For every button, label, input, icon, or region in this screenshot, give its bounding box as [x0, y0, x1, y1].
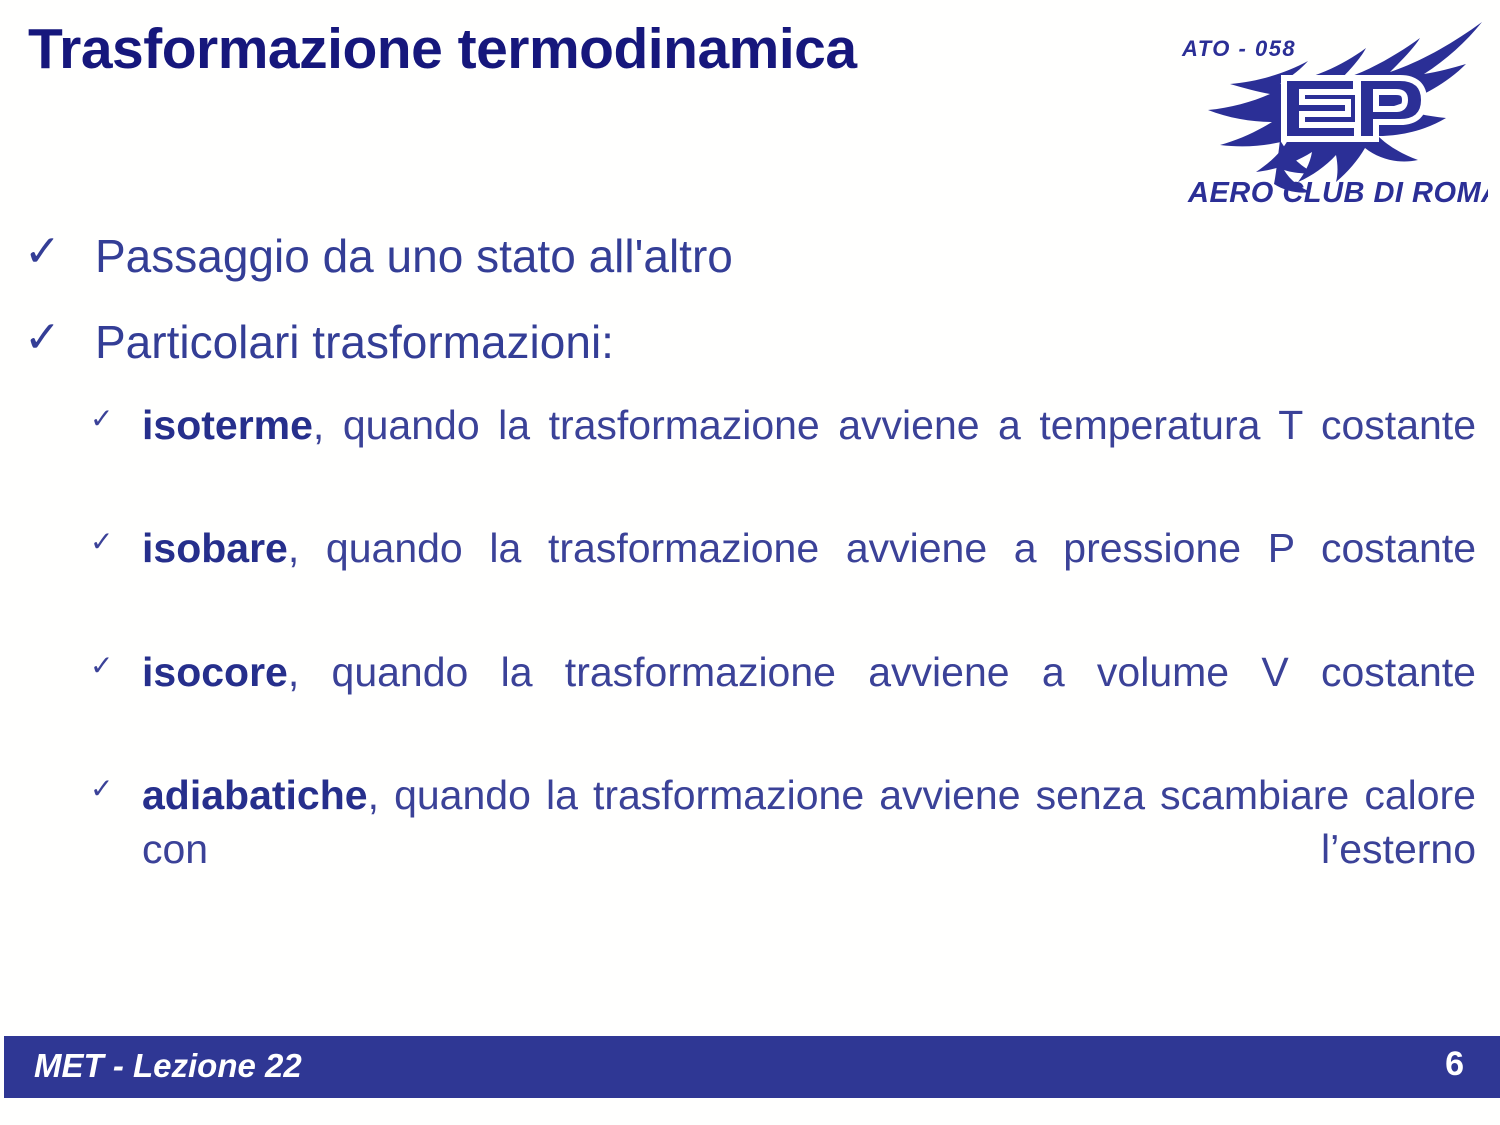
- aero-club-di-roma-logo: ATO - 058 AERO CLUB DI ROMA: [1152, 14, 1488, 214]
- bullet-level2-0: ✓ isoterme, quando la trasformazione avv…: [0, 399, 1500, 506]
- logo-top-text: ATO - 058: [1181, 36, 1296, 61]
- checkmark-icon: ✓: [24, 310, 61, 365]
- bullet-level1-0-text: Passaggio da uno stato all'altro: [95, 230, 733, 282]
- bullet-level2-0-term: isoterme: [142, 402, 313, 448]
- bullet-level2-1: ✓ isobare, quando la trasformazione avvi…: [0, 522, 1500, 629]
- footer-bar: MET - Lezione 22 6: [4, 1036, 1500, 1098]
- bullet-level1-1-text: Particolari trasformazioni:: [95, 316, 614, 368]
- bullet-level2-1-text: , quando la trasformazione avviene a pre…: [288, 525, 1476, 571]
- checkmark-icon: ✓: [90, 524, 113, 561]
- bullet-level2-2-term: isocore: [142, 649, 288, 695]
- checkmark-icon: ✓: [90, 401, 113, 438]
- bullet-level1-0: ✓ Passaggio da uno stato all'altro: [0, 228, 1500, 286]
- footer-label: MET - Lezione 22: [34, 1047, 302, 1085]
- bullet-level2-1-term: isobare: [142, 525, 288, 571]
- bullet-level2-2: ✓ isocore, quando la trasformazione avvi…: [0, 646, 1500, 753]
- checkmark-icon: ✓: [24, 224, 61, 279]
- page-title: Trasformazione termodinamica: [28, 18, 1088, 81]
- bullet-level1-1: ✓ Particolari trasformazioni:: [0, 314, 1500, 372]
- bullet-list: ✓ Passaggio da uno stato all'altro ✓ Par…: [0, 228, 1500, 946]
- bullet-level2-3-term: adiabatiche: [142, 772, 368, 818]
- slide-number: 6: [1445, 1045, 1464, 1084]
- checkmark-icon: ✓: [90, 648, 113, 685]
- bullet-level2-3: ✓ adiabatiche, quando la trasformazione …: [0, 769, 1500, 930]
- checkmark-icon: ✓: [90, 771, 113, 808]
- slide: Trasformazione termodinamica ATO - 058 A…: [0, 0, 1500, 1125]
- bullet-level2-2-text: , quando la trasformazione avviene a vol…: [288, 649, 1476, 695]
- bullet-level2-0-text: , quando la trasformazione avviene a tem…: [313, 402, 1476, 448]
- logo-bottom-text: AERO CLUB DI ROMA: [1187, 177, 1488, 209]
